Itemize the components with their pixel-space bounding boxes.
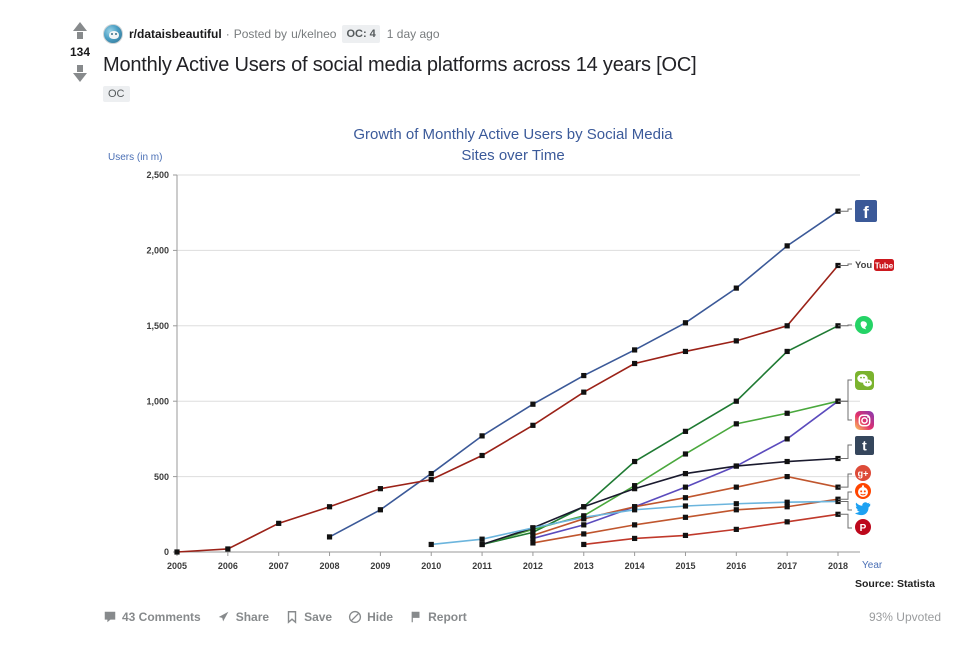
data-point (734, 286, 739, 291)
x-tick-label: 2011 (472, 561, 492, 571)
oc-count-badge[interactable]: OC: 4 (342, 25, 379, 43)
data-point (785, 474, 790, 479)
leader-line-wechat (838, 380, 852, 401)
data-point (327, 504, 332, 509)
data-point (683, 451, 688, 456)
y-tick-label: 500 (154, 472, 169, 482)
data-point (785, 436, 790, 441)
x-tick-label: 2018 (828, 561, 848, 571)
subreddit-link[interactable]: r/dataisbeautiful (129, 26, 222, 42)
x-tick-label: 2014 (625, 561, 645, 571)
bookmark-icon (285, 610, 299, 624)
y-tick-label: 2,000 (146, 246, 169, 256)
tumblr-icon: t (855, 436, 874, 455)
whatsapp-icon (855, 316, 873, 334)
data-point (581, 390, 586, 395)
data-point (683, 485, 688, 490)
author-link[interactable]: u/kelneo (291, 26, 336, 42)
meta-separator: · (226, 26, 230, 42)
y-tick-label: 1,000 (146, 396, 169, 406)
data-point (785, 323, 790, 328)
data-point (734, 338, 739, 343)
post-meta: r/dataisbeautiful · Posted by u/kelneo O… (103, 24, 440, 44)
twitter-icon (855, 502, 870, 515)
y-tick-label: 1,500 (146, 321, 169, 331)
hide-button[interactable]: Hide (348, 610, 393, 624)
upvote-ratio: 93% Upvoted (869, 610, 941, 624)
data-point (683, 349, 688, 354)
data-point (429, 471, 434, 476)
series-line-whatsapp (482, 326, 838, 545)
y-tick-label: 0 (164, 547, 169, 557)
data-point (734, 527, 739, 532)
data-point (785, 349, 790, 354)
data-point (581, 504, 586, 509)
data-point (530, 402, 535, 407)
series-line-pinterest (584, 514, 838, 544)
x-tick-label: 2005 (167, 561, 187, 571)
x-tick-label: 2012 (523, 561, 543, 571)
data-point (174, 549, 179, 554)
data-point (785, 519, 790, 524)
x-tick-label: 2016 (726, 561, 746, 571)
x-tick-label: 2010 (421, 561, 441, 571)
y-tick-label: 2,500 (146, 170, 169, 180)
leader-line-instagram (838, 401, 852, 420)
data-point (683, 495, 688, 500)
flag-icon (409, 610, 423, 624)
comments-label: 43 Comments (122, 610, 201, 624)
data-point (785, 500, 790, 505)
comments-button[interactable]: 43 Comments (103, 610, 201, 624)
data-point (530, 533, 535, 538)
data-point (378, 507, 383, 512)
data-point (785, 243, 790, 248)
data-point (530, 423, 535, 428)
facebook-icon: f (855, 200, 877, 222)
data-point (734, 501, 739, 506)
data-point (530, 540, 535, 545)
data-point (479, 433, 484, 438)
page-title[interactable]: Monthly Active Users of social media pla… (103, 52, 697, 78)
data-point (734, 507, 739, 512)
data-point (378, 486, 383, 491)
hide-label: Hide (367, 610, 393, 624)
data-point (683, 515, 688, 520)
save-button[interactable]: Save (285, 610, 332, 624)
data-point (785, 504, 790, 509)
x-tick-label: 2007 (269, 561, 289, 571)
data-point (683, 320, 688, 325)
x-tick-label: 2009 (370, 561, 390, 571)
svg-text:Tube: Tube (875, 262, 894, 271)
data-point (479, 542, 484, 547)
data-point (327, 534, 332, 539)
vote-rail: 134 (60, 22, 100, 82)
arrow-up-icon[interactable] (73, 22, 87, 31)
data-point (632, 361, 637, 366)
data-point (734, 463, 739, 468)
comment-bubble-icon (103, 610, 117, 624)
data-point (683, 429, 688, 434)
subreddit-avatar-icon (103, 24, 123, 44)
data-point (276, 521, 281, 526)
data-point (632, 536, 637, 541)
data-point (632, 459, 637, 464)
data-point (785, 459, 790, 464)
pinterest-icon: P (855, 519, 871, 535)
x-tick-label: 2006 (218, 561, 238, 571)
post-flair[interactable]: OC (103, 86, 130, 102)
x-tick-label: 2013 (574, 561, 594, 571)
data-point (225, 546, 230, 551)
arrow-up-stem (77, 32, 83, 39)
data-point (632, 522, 637, 527)
wechat-icon (855, 371, 874, 390)
data-point (734, 399, 739, 404)
x-tick-label: 2017 (777, 561, 797, 571)
youtube-icon: YouTube (855, 259, 894, 271)
post-timestamp: 1 day ago (387, 26, 440, 42)
save-label: Save (304, 610, 332, 624)
data-point (479, 537, 484, 542)
report-button[interactable]: Report (409, 610, 467, 624)
report-label: Report (428, 610, 467, 624)
data-point (632, 347, 637, 352)
data-point (683, 533, 688, 538)
svg-text:g+: g+ (858, 468, 869, 478)
data-point (734, 485, 739, 490)
data-point (632, 486, 637, 491)
arrow-down-stem (77, 65, 83, 72)
data-point (785, 411, 790, 416)
block-circle-icon (348, 610, 362, 624)
post-actions: 43 Comments Share Save Hide (103, 610, 941, 624)
data-point (581, 373, 586, 378)
svg-text:P: P (860, 523, 867, 534)
share-arrow-icon (217, 610, 231, 624)
data-point (581, 515, 586, 520)
data-point (479, 453, 484, 458)
reddit-icon (855, 483, 871, 499)
share-button[interactable]: Share (217, 610, 269, 624)
arrow-down-icon[interactable] (73, 73, 87, 82)
chart-plot-area: 05001,0001,5002,0002,5002005200620072008… (0, 110, 953, 600)
reddit-post: 134 r/dataisbeautiful · Posted by u/keln… (0, 0, 953, 648)
svg-text:t: t (862, 438, 867, 454)
data-point (734, 421, 739, 426)
instagram-icon (855, 411, 874, 430)
data-point (581, 531, 586, 536)
svg-text:You: You (855, 260, 872, 271)
svg-text:f: f (863, 203, 869, 222)
data-point (632, 507, 637, 512)
data-point (581, 522, 586, 527)
downvote-button[interactable] (73, 61, 87, 82)
posted-by-label: Posted by (234, 26, 287, 42)
x-tick-label: 2008 (320, 561, 340, 571)
data-point (683, 471, 688, 476)
data-point (530, 525, 535, 530)
googleplus-icon: g+ (855, 465, 871, 481)
data-point (429, 542, 434, 547)
data-point (683, 503, 688, 508)
upvote-button[interactable] (73, 22, 87, 43)
x-tick-label: 2015 (675, 561, 695, 571)
share-label: Share (236, 610, 269, 624)
chart-image[interactable]: Growth of Monthly Active Users by Social… (0, 110, 953, 600)
data-point (429, 477, 434, 482)
vote-count: 134 (70, 45, 90, 59)
data-point (581, 542, 586, 547)
